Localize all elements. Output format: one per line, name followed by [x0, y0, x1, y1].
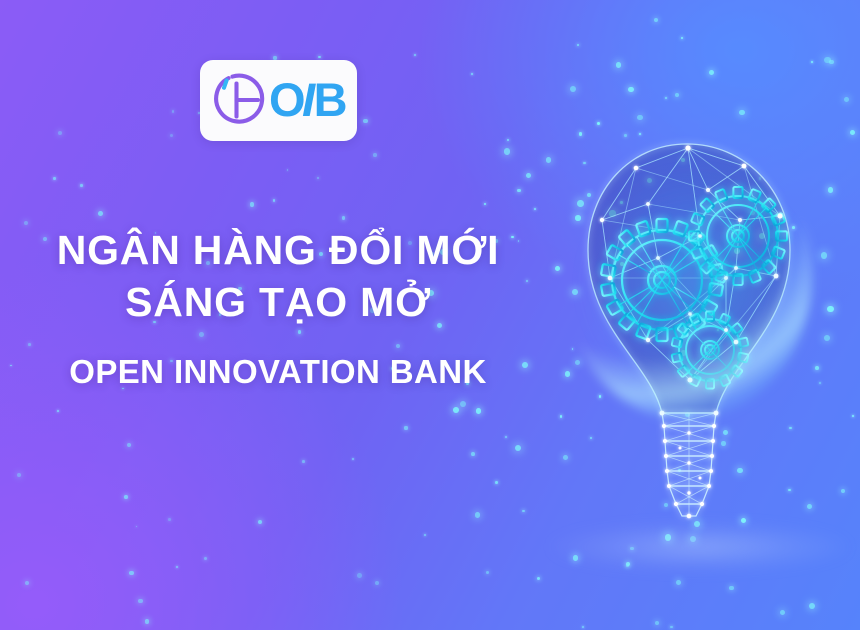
- particle: [460, 401, 466, 407]
- particle: [780, 610, 786, 616]
- particle: [809, 603, 815, 609]
- particle: [675, 93, 679, 97]
- particle: [476, 408, 481, 413]
- particle: [709, 70, 714, 75]
- particle: [250, 202, 254, 206]
- particle: [357, 573, 362, 578]
- particle: [127, 443, 131, 447]
- particle: [302, 460, 305, 463]
- lightbulb-artwork: [540, 108, 860, 588]
- particle: [53, 177, 55, 179]
- particle: [273, 199, 276, 202]
- particle: [577, 44, 580, 47]
- oib-circle-mark-icon: [211, 71, 269, 129]
- particle: [628, 87, 633, 92]
- particle: [17, 473, 21, 477]
- promo-banner: OIB NGÂN HÀNG ĐỔI MỚI SÁNG TẠO MỞ OPEN I…: [0, 0, 860, 630]
- particle: [526, 173, 531, 178]
- particle: [318, 56, 321, 59]
- particle: [665, 97, 667, 99]
- particle: [414, 54, 416, 56]
- particle: [124, 495, 128, 499]
- particle: [129, 571, 133, 575]
- particle: [829, 60, 834, 65]
- particle: [404, 426, 407, 429]
- particle: [515, 445, 521, 451]
- particle: [654, 18, 658, 22]
- particle: [507, 139, 509, 141]
- particle: [655, 621, 660, 626]
- particle: [375, 581, 379, 585]
- particle: [486, 571, 489, 574]
- particle: [317, 177, 319, 179]
- particle: [136, 526, 138, 528]
- particle: [670, 626, 673, 629]
- logo-lockup: OIB: [211, 71, 346, 129]
- particle: [471, 73, 473, 75]
- particle: [373, 153, 377, 157]
- particle: [475, 512, 481, 518]
- particle: [424, 534, 426, 536]
- particle: [363, 119, 367, 123]
- particle: [138, 599, 143, 604]
- particle: [522, 510, 525, 513]
- particle: [534, 208, 536, 210]
- particle: [570, 86, 576, 92]
- particle: [80, 184, 82, 186]
- particle: [176, 566, 178, 568]
- headline-line-1: NGÂN HÀNG ĐỔI MỚI: [0, 224, 556, 276]
- particle: [204, 557, 207, 560]
- particle: [616, 62, 622, 68]
- particle: [170, 134, 174, 138]
- logo-letter-b: B: [314, 73, 346, 126]
- particle: [484, 203, 486, 205]
- headline-line-2: SÁNG TẠO MỞ: [0, 276, 556, 328]
- particle: [471, 452, 475, 456]
- particle: [25, 581, 29, 585]
- headline-line-3: OPEN INNOVATION BANK: [0, 351, 556, 394]
- logo-wordmark: OIB: [269, 76, 346, 123]
- headline-block: NGÂN HÀNG ĐỔI MỚI SÁNG TẠO MỞ OPEN INNOV…: [0, 224, 556, 394]
- particle: [811, 61, 813, 63]
- particle: [168, 518, 171, 521]
- particle: [352, 458, 354, 460]
- gear-medium-icon: [689, 187, 787, 285]
- particle: [172, 110, 175, 113]
- particle: [504, 148, 510, 154]
- particle: [287, 169, 289, 171]
- particle: [517, 189, 521, 193]
- particle: [824, 57, 830, 63]
- gear-large-icon: [601, 219, 723, 341]
- particle: [453, 407, 459, 413]
- particle: [342, 216, 345, 219]
- particle: [505, 436, 507, 438]
- particle: [681, 37, 683, 39]
- particle: [495, 481, 498, 484]
- particle: [98, 211, 103, 216]
- particle: [258, 520, 262, 524]
- particle: [57, 410, 59, 412]
- particle: [844, 97, 849, 102]
- gear-small-icon: [672, 312, 749, 389]
- particle: [145, 619, 150, 624]
- particle: [58, 131, 62, 135]
- logo-plate: OIB: [200, 60, 357, 141]
- lightbulb-svg: [540, 108, 860, 588]
- particle: [582, 626, 584, 628]
